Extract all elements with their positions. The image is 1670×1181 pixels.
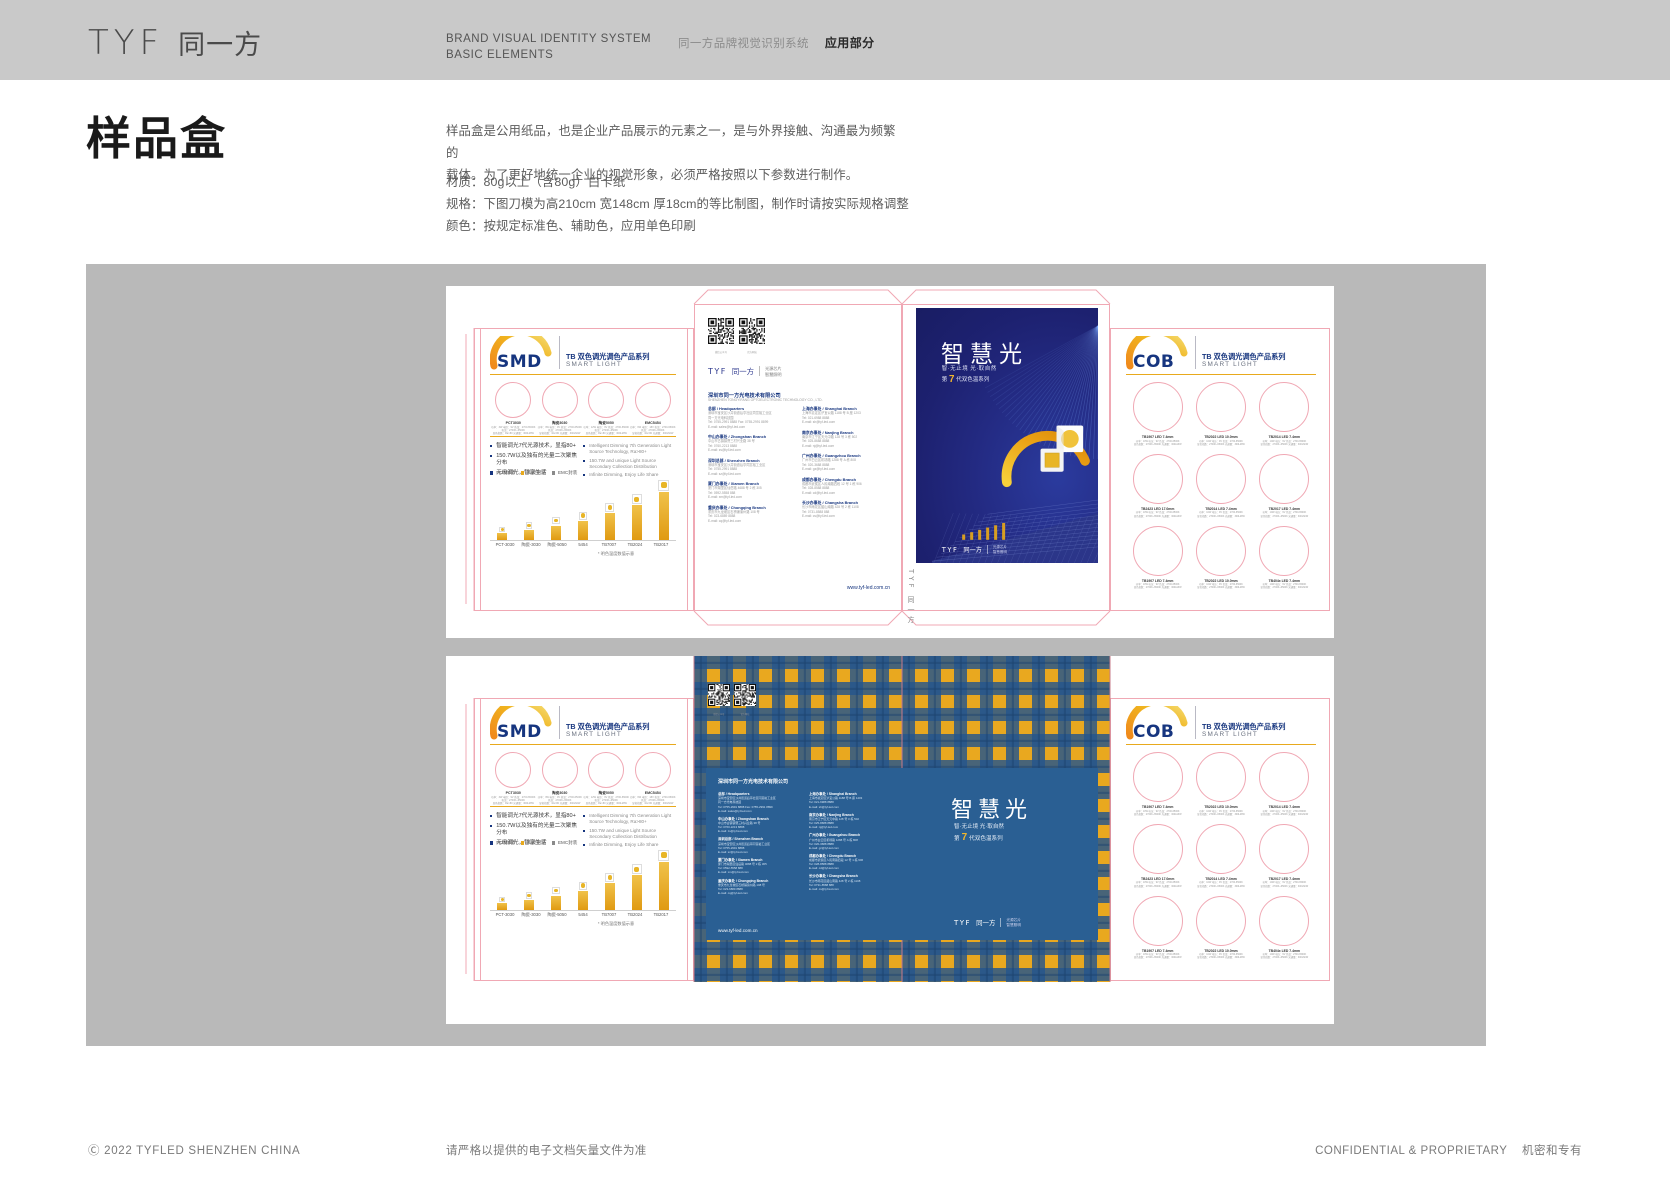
tyf-logo-divider xyxy=(1000,918,1001,927)
brand-logo-cn: 同一方 xyxy=(178,32,262,60)
tyf-logo-subtitle: 光源芯片智慧照明 xyxy=(993,545,1007,554)
product-circle xyxy=(1259,526,1309,576)
legend-item: EMC封装 xyxy=(552,470,578,476)
qr-code-item: 微信公众号 xyxy=(708,318,734,354)
product-spec: 显色指数：2700K~6500K 光通量：300LM/W xyxy=(1253,885,1316,888)
plaid-contact-column: 上海办事处 / Shanghai Branch上海市嘉定区沪宜公路 1188 号… xyxy=(809,792,894,899)
product-circle xyxy=(1133,896,1183,946)
plaid-contact-block: 广州办事处 / Guangzhou Branch广州市白云区机场路 1288 号… xyxy=(809,833,894,850)
led-chip-icon xyxy=(658,850,669,861)
feature-bullet-text: 150.7W and unique Light Source Secondary… xyxy=(589,458,673,470)
legend-label: EMC封装 xyxy=(558,840,577,846)
svg-text:SMD: SMD xyxy=(497,352,542,370)
plaid-contact-columns: 总部 / Headquarters深圳市宝安区沙井街道后亭社区同富裕工业区 同一… xyxy=(718,792,894,899)
plaid-contact-block: 南京办事处 / Nanjing Branch南京市江宁区天元中路 128 号 3… xyxy=(809,813,894,830)
product-caption: TB2014 LED 7.4mm功率：10W 电压：9V 色温：2700-650… xyxy=(1253,805,1316,816)
feature-bullet-item: 智能调光7代光源技术，显指80+ xyxy=(490,813,580,820)
smd-header-rule xyxy=(490,374,676,375)
chart-bars xyxy=(490,481,676,540)
product-caption: TB2423 LED 17.0mm功率：10W 电压：9V 色温：2700-65… xyxy=(1126,507,1189,518)
cob-header-rule xyxy=(1126,374,1316,375)
plaid-contact-column: 总部 / Headquarters深圳市宝安区沙井街道后亭社区同富裕工业区 同一… xyxy=(718,792,803,899)
cover-gen-suffix: 代双色温系列 xyxy=(956,375,989,383)
plaid-cover-title: 智慧光 xyxy=(951,792,1032,824)
feature-bullet-text: 智能调光7代光源技术，显指80+ xyxy=(496,443,576,450)
qr-code-item: 官方网站 xyxy=(734,684,756,716)
footer-confidential-en: CONFIDENTIAL & PROPRIETARY xyxy=(1315,1145,1507,1157)
page-title: 样品盒 xyxy=(86,116,227,161)
lockup-divider xyxy=(559,706,560,739)
led-chip-core xyxy=(554,889,558,893)
feature-bullet-text: Intelligent Dimming 7th Generation Light… xyxy=(589,813,673,825)
product-caption: TB2022 LED 10.0mm功率：10W 电压：9V 色温：2700-65… xyxy=(1189,579,1252,590)
product-spec: 显色指数：2700K~6500K 光通量：300LM/W xyxy=(1189,813,1252,816)
product-caption: 陶瓷3030功率：3W 电压：9V 色温：2700-6500K色温：2700K~… xyxy=(537,791,584,806)
led-chip-core xyxy=(608,875,613,880)
chart-bar xyxy=(605,883,615,910)
product-caption: TB1907 LED 7.4mm功率：10W 电压：9V 色温：2700-650… xyxy=(1126,579,1189,590)
feature-bullet-item: 150.7W and unique Light Source Secondary… xyxy=(583,458,673,470)
header-subtitle-en: BRAND VISUAL IDENTITY SYSTEM BASIC ELEME… xyxy=(446,31,651,64)
header-system-name: 同一方品牌视觉识别系统 xyxy=(678,35,809,51)
chart-bar xyxy=(551,896,561,911)
led-chip-icon xyxy=(658,480,669,491)
chart-bar-group xyxy=(600,873,620,910)
plaid-contact-block: 重庆办事处 / Chongqing Branch重庆市九龙坡区石桥铺渝州路 10… xyxy=(718,879,803,896)
chart-x-label: TB2017 xyxy=(648,912,674,918)
product-caption: 陶瓷3030功率：3W 电压：9V 色温：2700-6500K色温：2700K~… xyxy=(537,421,584,436)
contact-column: 总部 / Headquarters深圳市宝安区沙井街道后亭社区同富裕工业区 同一… xyxy=(708,406,796,528)
product-spec: 显色指数：2700K~6500K 光通量：300LM/W xyxy=(1126,885,1189,888)
contact-website-url: www.tyf-led.com.cn xyxy=(708,585,890,591)
led-chip-core xyxy=(554,519,558,523)
feature-bullet-text: Infinite Dimming, Enjoy Life Share xyxy=(589,842,658,848)
chart-bar xyxy=(524,530,534,540)
chart-x-label: TB7007 xyxy=(596,542,622,548)
product-cell: PCT3030功率：3W 电压：9V 色温：2700-6500K色温：2700K… xyxy=(490,382,537,436)
contact-block: 广州办事处 / Guangzhou Branch广州市白云区机场路 1288 号… xyxy=(802,453,890,472)
feature-bullet-item: 智能调光7代光源技术，显指80+ xyxy=(490,443,580,450)
led-chip-core xyxy=(527,524,530,527)
product-circle xyxy=(635,382,671,418)
plaid-contact-body: 厦门市湖里区仙岳路 4688 号 2 栋 305 Tel: 0592-5558 … xyxy=(718,862,803,874)
product-caption: TB1907 LED 7.4mm功率：10W 电压：9V 色温：2700-650… xyxy=(1126,435,1189,446)
chart-bar xyxy=(632,875,642,910)
chart-legend: PCT封装陶瓷封装EMC封装 xyxy=(490,840,577,846)
product-series-title-en: SMART LIGHT xyxy=(1202,731,1285,740)
product-caption: TB2022 LED 10.0mm功率：10W 电压：9V 色温：2700-65… xyxy=(1189,435,1252,446)
logo-smd-mark: SMD xyxy=(490,336,552,370)
feature-bullet-text: 智能调光7代光源技术，显指80+ xyxy=(496,813,576,820)
product-cell: 陶瓷5050功率：12W 电压：9V 色温：2700-6500K色温：2700K… xyxy=(583,752,630,806)
legend-item: 陶瓷封装 xyxy=(521,840,546,846)
bullet-dot xyxy=(490,445,492,447)
chart-x-label: TB2017 xyxy=(648,542,674,548)
lockup-divider xyxy=(1195,706,1196,739)
product-circle xyxy=(495,752,531,788)
tyf-logo-subtitle: 光源芯片智慧照明 xyxy=(1006,918,1021,927)
product-bar-chart: PCT-3030陶瓷-3030陶瓷-50505454TB7007TB2024TB… xyxy=(490,849,676,919)
tyf-logo-lockup: TYF同一方光源芯片智慧照明 xyxy=(954,918,1021,927)
product-cell: TB2014 LED 7.4mm功率：10W 电压：9V 色温：2700-650… xyxy=(1189,454,1252,518)
contact-block: 重庆办事处 / Chongqing Branch重庆市九龙坡区石桥铺渝州路 10… xyxy=(708,505,796,524)
chart-bar-group xyxy=(654,850,674,910)
feature-bullet-text: 150.7W以及独有的光量二次聚焦分布 xyxy=(496,823,580,838)
tyf-logo-mark: TYF xyxy=(954,919,971,927)
chart-x-label: PCT-3030 xyxy=(492,542,518,548)
product-spec: 显色指数：2700K~6500K 光通量：300LM/W xyxy=(1189,443,1252,446)
cover-subtitle: 智·无止境 光·取自然 xyxy=(942,364,997,372)
chart-footnote: * 明色温度数值示意 xyxy=(598,921,634,927)
plaid-contact-url: www.tyf-led.com.cn xyxy=(718,928,758,933)
lockup-text: TB 双色调光调色产品系列SMART LIGHT xyxy=(1202,352,1285,370)
artwork-canvas: SMD TB 双色调光调色产品系列SMART LIGHTPCT3030功率：3W… xyxy=(86,264,1486,1046)
page-header: TYF 同一方 BRAND VISUAL IDENTITY SYSTEM BAS… xyxy=(0,0,1670,80)
svg-text:SMD: SMD xyxy=(497,722,542,740)
legend-item: PCT封装 xyxy=(490,470,515,476)
product-caption: PCT3030功率：3W 电压：9V 色温：2700-6500K色温：2700K… xyxy=(490,421,537,436)
cover-generation-line: 第7代双色温系列 xyxy=(942,374,990,385)
plaid-contact-body: 深圳市宝安区沙井街道后亭同富裕工业区 Tel: 0755-2991 8888 E… xyxy=(718,842,803,854)
spec-color: 颜色：按规定标准色、辅助色，应用单色印刷 xyxy=(446,216,916,238)
bullet-dot xyxy=(490,455,492,457)
contact-column: 上海办事处 / Shanghai Branch上海市嘉定区沪宜公路 1188 号… xyxy=(802,406,890,528)
contact-block: 厦门办事处 / Xiamen Branch厦门市湖里区仙岳路 4688 号 2 … xyxy=(708,481,796,500)
product-caption: TB1907 LED 7.4mm功率：10W 电压：9V 色温：2700-650… xyxy=(1126,949,1189,960)
product-cover-artwork: 智慧光智·无止境 光·取自然第7代双色温系列 TYF同一方光源芯片智慧照明 xyxy=(916,308,1098,563)
legend-label: PCT封装 xyxy=(496,470,514,476)
product-spec: 显色指数：2700K~6500K 光通量：300LM/W xyxy=(1253,443,1316,446)
product-caption: TB2017 LED 7.4mm功率：10W 电压：9V 色温：2700-650… xyxy=(1253,877,1316,888)
chart-x-label: 陶瓷-5050 xyxy=(544,912,570,918)
plaid-contact-block: 厦门办事处 / Xiamen Branch厦门市湖里区仙岳路 4688 号 2 … xyxy=(718,858,803,875)
cob-header-rule xyxy=(1126,744,1316,745)
contact-block-body: 南京市江宁区天元中路 128 号 3 栋 502 Tel: 025-8688 8… xyxy=(802,435,890,449)
product-circle xyxy=(1259,752,1309,802)
led-chip-icon xyxy=(579,512,587,520)
product-caption: EMC5454功率：6W 电压：18V 色温：2700-6500K色温：2700… xyxy=(630,791,677,806)
led-chip-icon xyxy=(632,864,642,874)
legend-label: PCT封装 xyxy=(496,840,514,846)
chart-bar-group xyxy=(627,494,647,540)
product-spec: 显色指数：2700K~6500K 光通量：300LM/W xyxy=(1189,885,1252,888)
led-chip-icon xyxy=(632,494,642,504)
plaid-contact-body: 深圳市宝安区沙井街道后亭社区同富裕工业区 同一方光电科技园 Tel: 0755-… xyxy=(718,796,803,812)
product-caption: TB404x LED 7.4mm功率：10W 电压：9V 色温：2700-650… xyxy=(1253,949,1316,960)
contact-block-body: 长沙市雨花区韶山南路 428 号 2 栋 1108 Tel: 0731-8588… xyxy=(802,505,890,519)
bullet-dot xyxy=(583,445,585,447)
product-spec: 显色指数：2700K~6500K 光通量：300LM/W xyxy=(1126,586,1189,589)
logo-cob-mark: COB xyxy=(1126,336,1188,370)
logo-lockup-cob: COB TB 双色调光调色产品系列SMART LIGHT xyxy=(1126,706,1285,740)
qr-code xyxy=(708,684,730,711)
product-series-title-cn: TB 双色调光调色产品系列 xyxy=(1202,722,1285,731)
product-spec: 显色指数：2700K~6500K 光通量：300LM/W xyxy=(1253,515,1316,518)
contact-block-body: 成都市武侯区人民南路四段 12 号 1 栋 906 Tel: 028-8588 … xyxy=(802,482,890,496)
chart-bar-group xyxy=(654,480,674,540)
header-section-name: 应用部分 xyxy=(825,34,875,51)
led-chip-icon xyxy=(499,527,504,532)
product-circle xyxy=(635,752,671,788)
chart-bar xyxy=(551,526,561,541)
qr-caption: 官方网站 xyxy=(734,712,756,716)
product-cell: TB2014 LED 7.4mm功率：10W 电压：9V 色温：2700-650… xyxy=(1189,824,1252,888)
product-circle xyxy=(1259,824,1309,874)
product-circle xyxy=(588,382,624,418)
product-caption: TB2022 LED 10.0mm功率：10W 电压：9V 色温：2700-65… xyxy=(1189,805,1252,816)
product-cell: TB2022 LED 10.0mm功率：10W 电压：9V 色温：2700-65… xyxy=(1189,382,1252,446)
smd-header-rule xyxy=(490,744,676,745)
plaid-cover-generation: 第7代双色温系列 xyxy=(954,832,1003,843)
chart-x-label: 5454 xyxy=(570,912,596,918)
legend-swatch xyxy=(490,471,493,474)
product-cell: TB2014 LED 7.4mm功率：10W 电压：9V 色温：2700-650… xyxy=(1253,752,1316,816)
plaid-contact-company: 深圳市同一方光电技术有限公司 xyxy=(718,778,788,785)
bullet-dot xyxy=(583,474,585,476)
chart-x-label: TB7007 xyxy=(596,912,622,918)
contact-block-body: 深圳市宝安区沙井街道后亭社区同富裕工业区 同一方光电科技园 Tel: 0755-… xyxy=(708,411,796,429)
product-circle xyxy=(1133,824,1183,874)
product-series-title-en: SMART LIGHT xyxy=(1202,361,1285,370)
contact-block: 总部 / Headquarters深圳市宝安区沙井街道后亭社区同富裕工业区 同一… xyxy=(708,406,796,429)
plaid-gen-number: 7 xyxy=(962,832,968,843)
product-cell: TB1907 LED 7.4mm功率：10W 电压：9V 色温：2700-650… xyxy=(1126,382,1189,446)
contact-block-body: 重庆市九龙坡区石桥铺渝州路 108 号 Tel: 023-6889 8888 E… xyxy=(708,510,796,524)
contact-block: 中山办事处 / Zhongshan Branch中山市古镇镇曹三村兴业路 38 … xyxy=(708,434,796,453)
product-circle-grid: TB1907 LED 7.4mm功率：10W 电压：9V 色温：2700-650… xyxy=(1126,752,1316,960)
chart-x-labels: PCT-3030陶瓷-3030陶瓷-50505454TB7007TB2024TB… xyxy=(490,912,676,918)
feature-bullet-column: Intelligent Dimming 7th Generation Light… xyxy=(583,443,676,481)
header-subtitle-line1: BRAND VISUAL IDENTITY SYSTEM xyxy=(446,31,651,47)
chart-bar xyxy=(497,533,507,540)
legend-item: PCT封装 xyxy=(490,840,515,846)
chart-x-label: TB2024 xyxy=(622,542,648,548)
feature-bullet-text: 150.7W and unique Light Source Secondary… xyxy=(589,828,673,840)
led-chip-icon xyxy=(526,522,532,528)
plaid-contact-body: 中山市古镇镇曹三村兴业路 38 号 Tel: 0760-2213 8888 E-… xyxy=(718,821,803,833)
product-caption: TB2014 LED 7.4mm功率：10W 电压：9V 色温：2700-650… xyxy=(1253,435,1316,446)
product-cell: TB2022 LED 10.0mm功率：10W 电压：9V 色温：2700-65… xyxy=(1189,896,1252,960)
bullet-dot xyxy=(583,815,585,817)
dieline-sheet-flat: SMD TB 双色调光调色产品系列SMART LIGHTPCT3030功率：3W… xyxy=(446,286,1334,638)
chart-x-label: 5454 xyxy=(570,542,596,548)
feature-bullet-item: Intelligent Dimming 7th Generation Light… xyxy=(583,813,673,825)
tyf-logo-mark: TYF xyxy=(708,367,727,376)
plaid-gen-suffix: 代双色温系列 xyxy=(969,834,1003,842)
lockup-divider xyxy=(559,336,560,369)
legend-label: 陶瓷封装 xyxy=(527,470,545,476)
contact-block-body: 深圳市宝安区沙井街道后亭同富裕工业区 Tel: 0755-2991 8888 E… xyxy=(708,463,796,477)
chart-x-labels: PCT-3030陶瓷-3030陶瓷-50505454TB7007TB2024TB… xyxy=(490,542,676,548)
svg-text:COB: COB xyxy=(1133,352,1174,370)
tyf-logo-lockup: TYF同一方光源芯片智慧照明 xyxy=(708,366,782,377)
product-cell: TB2423 LED 17.0mm功率：10W 电压：9V 色温：2700-65… xyxy=(1126,454,1189,518)
product-caption: TB2014 LED 7.4mm功率：10W 电压：9V 色温：2700-650… xyxy=(1189,507,1252,518)
product-caption: TB2022 LED 10.0mm功率：10W 电压：9V 色温：2700-65… xyxy=(1189,949,1252,960)
product-circle xyxy=(1259,382,1309,432)
footer-confidential-cn: 机密和专有 xyxy=(1522,1145,1582,1157)
product-cell: 陶瓷5050功率：12W 电压：9V 色温：2700-6500K色温：2700K… xyxy=(583,382,630,436)
description-line1: 样品盒是公用纸品，也是企业产品展示的元素之一，是与外界接触、沟通最为频繁的 xyxy=(446,120,906,164)
chart-bar-group xyxy=(492,527,512,540)
qr-code xyxy=(739,318,765,349)
product-circle xyxy=(1259,896,1309,946)
bullet-dot xyxy=(490,825,492,827)
plaid-contact-body: 长沙市雨花区韶山南路 428 号 2 栋 1108 Tel: 0731-8588… xyxy=(809,879,894,891)
bullet-dot xyxy=(490,815,492,817)
product-series-title-cn: TB 双色调光调色产品系列 xyxy=(566,722,649,731)
chart-bar-group xyxy=(627,864,647,910)
plaid-contact-block: 深圳总部 / Shenzhen Branch深圳市宝安区沙井街道后亭同富裕工业区… xyxy=(718,837,803,854)
product-circle xyxy=(1133,454,1183,504)
product-caption: 陶瓷5050功率：12W 电压：9V 色温：2700-6500K色温：2700K… xyxy=(583,791,630,806)
led-chip-core xyxy=(581,513,585,517)
product-circle xyxy=(1196,824,1246,874)
footer-copyright: Ⓒ 2022 TYFLED SHENZHEN CHINA xyxy=(88,1142,300,1158)
product-circle xyxy=(1196,382,1246,432)
led-chip-icon xyxy=(605,873,614,882)
led-chip-core xyxy=(608,505,613,510)
qr-code-item: 官方网站 xyxy=(739,318,765,354)
led-chip-icon xyxy=(605,503,614,512)
product-spec: 显色指数：2700K~6500K 光通量：300LM/W xyxy=(1126,813,1189,816)
product-cell: TB2022 LED 10.0mm功率：10W 电压：9V 色温：2700-65… xyxy=(1189,526,1252,590)
cover-gen-prefix: 第 xyxy=(942,375,948,383)
spec-list: 材质：80g以上（含80g）白卡纸 规格：下图刀模为高210cm 宽148cm … xyxy=(446,172,916,237)
product-circle xyxy=(542,382,578,418)
led-chip-core xyxy=(661,482,667,488)
brand-logo-mark: TYF xyxy=(88,26,164,60)
product-cell: TB404x LED 7.4mm功率：10W 电压：9V 色温：2700-650… xyxy=(1253,526,1316,590)
chart-bar-group xyxy=(573,512,593,540)
led-chip-icon xyxy=(499,897,504,902)
legend-item: EMC封装 xyxy=(552,840,578,846)
plaid-contact-block: 长沙办事处 / Changsha Branch长沙市雨花区韶山南路 428 号 … xyxy=(809,874,894,891)
product-circle xyxy=(1196,526,1246,576)
plaid-contact-block: 成都办事处 / Chengdu Branch成都市武侯区人民南路四段 12 号 … xyxy=(809,854,894,871)
lockup-text: TB 双色调光调色产品系列SMART LIGHT xyxy=(566,352,649,370)
led-chip-core xyxy=(634,867,639,872)
logo-smd-mark: SMD xyxy=(490,706,552,740)
feature-bullet-item: 150.7W以及独有的光量二次聚焦分布 xyxy=(490,453,580,468)
qr-code xyxy=(734,684,756,711)
product-circle xyxy=(1133,526,1183,576)
spine-title: 智慧光 xyxy=(905,334,918,376)
contact-block: 上海办事处 / Shanghai Branch上海市嘉定区沪宜公路 1188 号… xyxy=(802,406,890,425)
qr-code xyxy=(708,318,734,349)
product-spec: 显色指数：2700K~6500K 光通量：300LM/W xyxy=(1253,586,1316,589)
tyf-logo-divider xyxy=(987,545,988,553)
product-bar-chart: PCT-3030陶瓷-3030陶瓷-50505454TB7007TB2024TB… xyxy=(490,479,676,549)
tyf-logo-subtitle: 光源芯片智慧照明 xyxy=(765,366,782,376)
product-caption: TB1907 LED 7.4mm功率：10W 电压：9V 色温：2700-650… xyxy=(1126,805,1189,816)
chart-x-label: TB2024 xyxy=(622,912,648,918)
chart-bar-group xyxy=(573,882,593,910)
plaid-contact-body: 重庆市九龙坡区石桥铺渝州路 108 号 Tel: 023-6889 8888 E… xyxy=(718,883,803,895)
section-divider-rule xyxy=(490,806,676,807)
contact-columns: 总部 / Headquarters深圳市宝安区沙井街道后亭社区同富裕工业区 同一… xyxy=(708,406,890,528)
product-circle-grid: TB1907 LED 7.4mm功率：10W 电压：9V 色温：2700-650… xyxy=(1126,382,1316,590)
product-spec: 显色指数：2700K~6500K 光通量：300LM/W xyxy=(1189,515,1252,518)
product-spec: 显色指数：2700K~6500K 光通量：300LM/W xyxy=(1189,586,1252,589)
plaid-contact-body: 广州市白云区机场路 1288 号 A 栋 808 Tel: 020-3688 8… xyxy=(809,838,894,850)
contact-block: 深圳总部 / Shenzhen Branch深圳市宝安区沙井街道后亭同富裕工业区… xyxy=(708,458,796,477)
lockup-text: TB 双色调光调色产品系列SMART LIGHT xyxy=(1202,722,1285,740)
product-cell: TB2017 LED 7.4mm功率：10W 电压：9V 色温：2700-650… xyxy=(1253,454,1316,518)
header-subtitle-line2: BASIC ELEMENTS xyxy=(446,47,651,63)
plaid-gen-prefix: 第 xyxy=(954,834,960,842)
feature-bullet-text: Intelligent Dimming 7th Generation Light… xyxy=(589,443,673,455)
legend-swatch xyxy=(521,841,524,844)
chart-bar xyxy=(497,903,507,910)
led-chip-icon xyxy=(552,887,559,894)
product-series-title-en: SMART LIGHT xyxy=(566,731,649,740)
legend-swatch xyxy=(552,841,555,844)
led-chip-core xyxy=(527,894,530,897)
legend-label: 陶瓷封装 xyxy=(527,840,545,846)
product-cell: TB404x LED 7.4mm功率：10W 电压：9V 色温：2700-650… xyxy=(1253,896,1316,960)
spine-brand: TYF 同一方 xyxy=(906,569,916,626)
product-series-title-cn: TB 双色调光调色产品系列 xyxy=(1202,352,1285,361)
legend-swatch xyxy=(490,841,493,844)
product-circle xyxy=(542,752,578,788)
header-breadcrumb: 同一方品牌视觉识别系统 应用部分 xyxy=(678,34,875,51)
product-cell: 陶瓷3030功率：3W 电压：9V 色温：2700-6500K色温：2700K~… xyxy=(537,382,584,436)
chart-bar xyxy=(659,862,669,910)
product-circle xyxy=(495,382,531,418)
tyf-logo-cn: 同一方 xyxy=(963,545,982,554)
product-circle xyxy=(1196,896,1246,946)
dieline-sheet-plaid: SMD TB 双色调光调色产品系列SMART LIGHTPCT3030功率：3W… xyxy=(446,656,1334,1024)
product-circle xyxy=(1196,454,1246,504)
contact-block-body: 中山市古镇镇曹三村兴业路 38 号 Tel: 0760-2213 8888 E-… xyxy=(708,439,796,453)
chart-footnote: * 明色温度数值示意 xyxy=(598,551,634,557)
product-cell: TB2017 LED 7.4mm功率：10W 电压：9V 色温：2700-650… xyxy=(1253,824,1316,888)
contact-block: 成都办事处 / Chengdu Branch成都市武侯区人民南路四段 12 号 … xyxy=(802,477,890,496)
product-cell: PCT3030功率：3W 电压：9V 色温：2700-6500K色温：2700K… xyxy=(490,752,537,806)
led-chip-icon xyxy=(579,882,587,890)
chart-bar-group xyxy=(546,887,566,910)
qr-caption: 微信公众号 xyxy=(708,350,734,354)
led-chip-core xyxy=(501,528,504,531)
chart-axis xyxy=(490,540,676,541)
contact-block-body: 上海市嘉定区沪宜公路 1188 号 B 座 1203 Tel: 021-6988… xyxy=(802,411,890,425)
product-caption: TB404x LED 7.4mm功率：10W 电压：9V 色温：2700-650… xyxy=(1253,579,1316,590)
bullet-dot xyxy=(583,830,585,832)
product-spec: 显色指数：2700K~6500K 光通量：300LM/W xyxy=(1126,956,1189,959)
plaid-contact-block: 中山办事处 / Zhongshan Branch中山市古镇镇曹三村兴业路 38 … xyxy=(718,817,803,834)
product-cell: 陶瓷3030功率：3W 电压：9V 色温：2700-6500K色温：2700K~… xyxy=(537,752,584,806)
feature-bullet-text: 150.7W以及独有的光量二次聚焦分布 xyxy=(496,453,580,468)
bullet-dot xyxy=(583,844,585,846)
tyf-logo-cn: 同一方 xyxy=(976,918,995,927)
product-cell: TB2014 LED 7.4mm功率：10W 电压：9V 色温：2700-650… xyxy=(1253,382,1316,446)
product-caption: TB2014 LED 7.4mm功率：10W 电压：9V 色温：2700-650… xyxy=(1189,877,1252,888)
tyf-logo-cn: 同一方 xyxy=(732,366,754,377)
logo-lockup-smd: SMD TB 双色调光调色产品系列SMART LIGHT xyxy=(490,336,649,370)
product-cell: EMC5454功率：6W 电压：18V 色温：2700-6500K色温：2700… xyxy=(630,752,677,806)
legend-swatch xyxy=(552,471,555,474)
product-cell: TB1907 LED 7.4mm功率：10W 电压：9V 色温：2700-650… xyxy=(1126,896,1189,960)
tyf-logo-lockup: TYF同一方光源芯片智慧照明 xyxy=(942,545,1007,554)
contact-block: 南京办事处 / Nanjing Branch南京市江宁区天元中路 128 号 3… xyxy=(802,430,890,449)
product-cell: TB2022 LED 10.0mm功率：10W 电压：9V 色温：2700-65… xyxy=(1189,752,1252,816)
chart-x-label: 陶瓷-3030 xyxy=(518,912,544,918)
feature-bullet-item: Infinite Dimming, Enjoy Life Share xyxy=(583,842,673,848)
plaid-contact-block: 上海办事处 / Shanghai Branch上海市嘉定区沪宜公路 1188 号… xyxy=(809,792,894,809)
chart-bar-group xyxy=(492,897,512,910)
contact-block: 长沙办事处 / Changsha Branch长沙市雨花区韶山南路 428 号 … xyxy=(802,500,890,519)
